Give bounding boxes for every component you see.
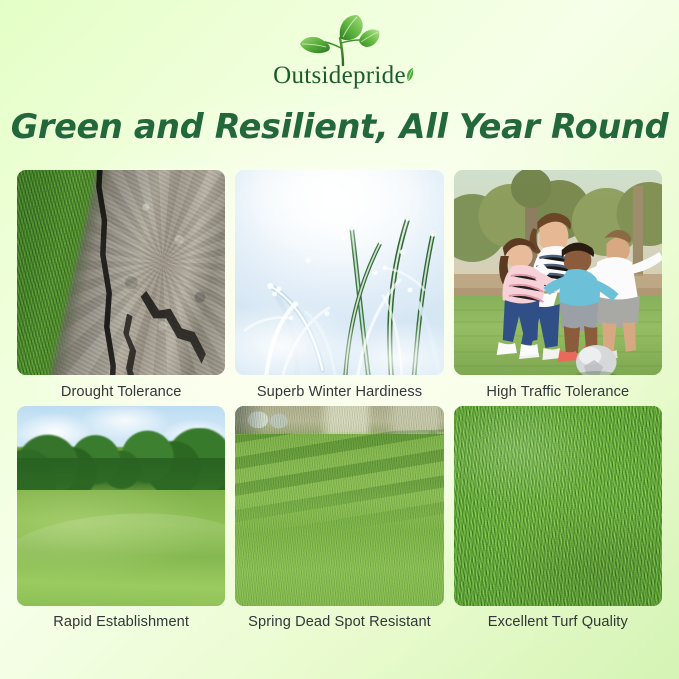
feature-caption: Spring Dead Spot Resistant bbox=[248, 614, 431, 632]
feature-grid: Drought Tolerance bbox=[17, 170, 662, 631]
striped-mowed-lawn-photo bbox=[235, 406, 443, 606]
feature-card-winter-hardiness: Superb Winter Hardiness bbox=[235, 170, 443, 402]
frost-covered-grass-blades-photo bbox=[235, 170, 443, 375]
lawn-texture-layer bbox=[235, 406, 443, 606]
feature-caption: Drought Tolerance bbox=[61, 384, 182, 402]
dense-green-turf-closeup-photo bbox=[454, 406, 662, 606]
ice-sparkle-layer bbox=[235, 170, 443, 375]
feature-card-excellent-turf-quality: Excellent Turf Quality bbox=[454, 406, 662, 632]
feature-card-rapid-establishment: Rapid Establishment bbox=[17, 406, 225, 632]
page-title: Green and Resilient, All Year Round bbox=[0, 107, 679, 146]
feature-caption: High Traffic Tolerance bbox=[486, 384, 629, 402]
family-playing-soccer-on-lawn-photo bbox=[454, 170, 662, 375]
infographic-page: Outsidepride Green and Resilient, All Ye… bbox=[0, 0, 679, 679]
grass-meeting-cracked-dry-earth-photo bbox=[17, 170, 225, 375]
feature-caption: Excellent Turf Quality bbox=[488, 614, 628, 632]
feature-caption: Rapid Establishment bbox=[53, 614, 189, 632]
feature-card-drought-tolerance: Drought Tolerance bbox=[17, 170, 225, 402]
feature-card-high-traffic-tolerance: High Traffic Tolerance bbox=[454, 170, 662, 402]
brand-logo: Outsidepride bbox=[0, 14, 679, 100]
leaf-dot-icon bbox=[402, 62, 415, 76]
feature-caption: Superb Winter Hardiness bbox=[257, 384, 422, 402]
brand-wordmark: Outsidepride bbox=[273, 63, 406, 88]
sprout-leaves-icon bbox=[280, 14, 400, 66]
turf-shading-layer bbox=[454, 406, 662, 606]
feature-card-spring-dead-spot-resistant: Spring Dead Spot Resistant bbox=[235, 406, 443, 632]
brand-wordmark-text: Outsidepride bbox=[273, 62, 406, 89]
golf-course-fairway-with-treeline-photo bbox=[17, 406, 225, 606]
